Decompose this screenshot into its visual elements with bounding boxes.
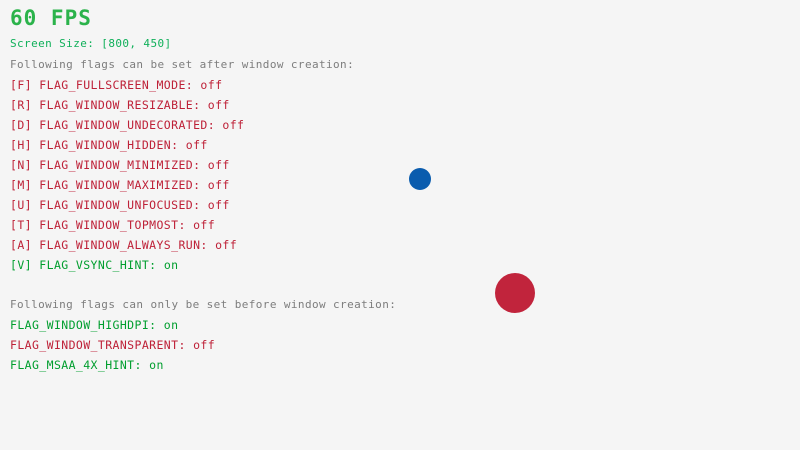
after-creation-note: Following flags can be set after window … [10, 58, 354, 71]
flag-name: FLAG_MSAA_4X_HINT: [10, 358, 149, 372]
flag-row-flag-window-highdpi[interactable]: FLAG_WINDOW_HIGHDPI: on [10, 318, 178, 332]
flag-key: [V] [10, 258, 39, 272]
flag-row-flag-window-resizable[interactable]: [R] FLAG_WINDOW_RESIZABLE: off [10, 98, 230, 112]
flag-key: [H] [10, 138, 39, 152]
screen-size-label: Screen Size: [800, 450] [10, 37, 172, 50]
flag-value: off [222, 118, 244, 132]
flag-row-flag-window-always-run[interactable]: [A] FLAG_WINDOW_ALWAYS_RUN: off [10, 238, 237, 252]
fps-counter: 60 FPS [10, 6, 92, 30]
flag-name: FLAG_WINDOW_ALWAYS_RUN: [39, 238, 215, 252]
flag-key: [A] [10, 238, 39, 252]
flag-value: off [200, 78, 222, 92]
flag-key: [D] [10, 118, 39, 132]
before-creation-note: Following flags can only be set before w… [10, 298, 396, 311]
red-ball [495, 273, 535, 313]
flag-value: off [193, 338, 215, 352]
flag-name: FLAG_WINDOW_UNFOCUSED: [39, 198, 207, 212]
flag-row-flag-window-maximized[interactable]: [M] FLAG_WINDOW_MAXIMIZED: off [10, 178, 230, 192]
flag-key: [R] [10, 98, 39, 112]
flag-key: [T] [10, 218, 39, 232]
flag-value: off [208, 98, 230, 112]
flag-value: on [164, 318, 179, 332]
flag-name: FLAG_WINDOW_HIGHDPI: [10, 318, 164, 332]
application-window: 60 FPS Screen Size: [800, 450] Following… [0, 0, 800, 450]
flag-value: on [164, 258, 179, 272]
flag-row-flag-msaa-4x-hint[interactable]: FLAG_MSAA_4X_HINT: on [10, 358, 164, 372]
flag-row-flag-window-topmost[interactable]: [T] FLAG_WINDOW_TOPMOST: off [10, 218, 215, 232]
flag-value: off [208, 178, 230, 192]
flag-row-flag-window-unfocused[interactable]: [U] FLAG_WINDOW_UNFOCUSED: off [10, 198, 230, 212]
flag-name: FLAG_FULLSCREEN_MODE: [39, 78, 200, 92]
flag-value: off [208, 198, 230, 212]
flag-row-flag-window-hidden[interactable]: [H] FLAG_WINDOW_HIDDEN: off [10, 138, 208, 152]
flag-value: off [186, 138, 208, 152]
flag-name: FLAG_WINDOW_MINIMIZED: [39, 158, 207, 172]
flag-row-flag-window-transparent[interactable]: FLAG_WINDOW_TRANSPARENT: off [10, 338, 215, 352]
flag-name: FLAG_WINDOW_RESIZABLE: [39, 98, 207, 112]
flag-name: FLAG_WINDOW_MAXIMIZED: [39, 178, 207, 192]
flag-row-flag-fullscreen-mode[interactable]: [F] FLAG_FULLSCREEN_MODE: off [10, 78, 222, 92]
flag-name: FLAG_WINDOW_HIDDEN: [39, 138, 185, 152]
flag-key: [U] [10, 198, 39, 212]
flag-value: off [208, 158, 230, 172]
flag-name: FLAG_VSYNC_HINT: [39, 258, 164, 272]
flag-name: FLAG_WINDOW_TRANSPARENT: [10, 338, 193, 352]
flag-name: FLAG_WINDOW_UNDECORATED: [39, 118, 222, 132]
flag-row-flag-window-minimized[interactable]: [N] FLAG_WINDOW_MINIMIZED: off [10, 158, 230, 172]
flag-value: on [149, 358, 164, 372]
flag-value: off [193, 218, 215, 232]
flag-value: off [215, 238, 237, 252]
flag-key: [M] [10, 178, 39, 192]
blue-ball [409, 168, 431, 190]
flag-row-flag-vsync-hint[interactable]: [V] FLAG_VSYNC_HINT: on [10, 258, 178, 272]
flag-key: [F] [10, 78, 39, 92]
flag-name: FLAG_WINDOW_TOPMOST: [39, 218, 193, 232]
flag-key: [N] [10, 158, 39, 172]
flag-row-flag-window-undecorated[interactable]: [D] FLAG_WINDOW_UNDECORATED: off [10, 118, 244, 132]
